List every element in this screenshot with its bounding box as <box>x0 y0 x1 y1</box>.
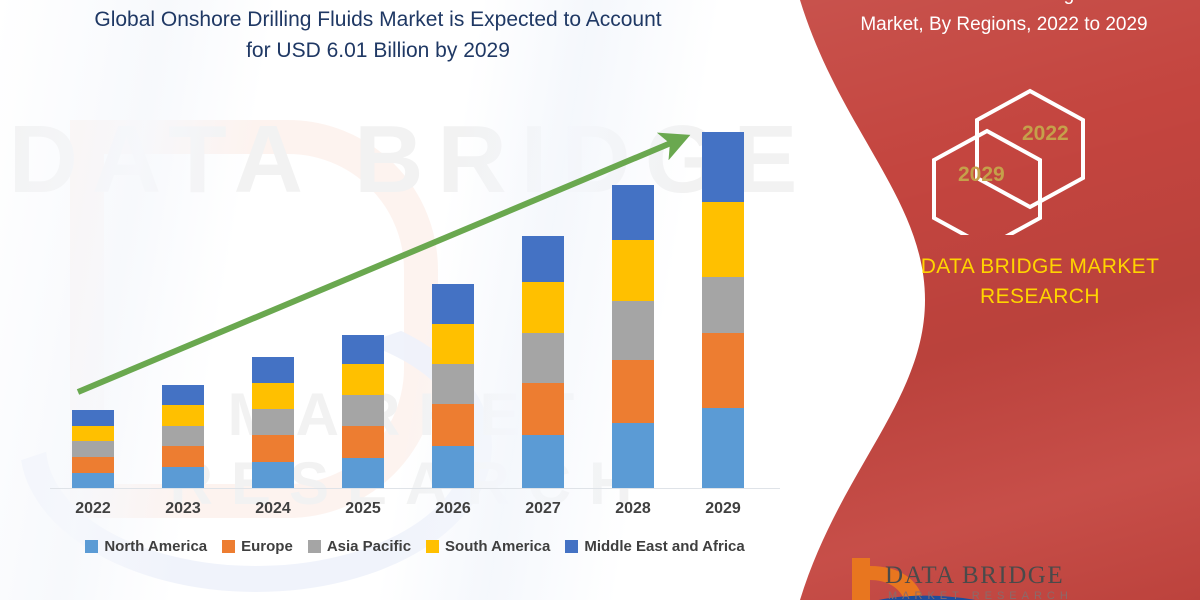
bar-segment-south-america <box>72 426 114 441</box>
bar-segment-north-america <box>72 473 114 488</box>
legend-item-middle-east-and-africa[interactable]: Middle East and Africa <box>565 538 744 555</box>
bar-segment-north-america <box>252 462 294 488</box>
x-axis-label-2028: 2028 <box>588 500 678 518</box>
legend-label: South America <box>445 538 550 555</box>
legend-swatch-icon <box>85 540 98 553</box>
bar-segment-europe <box>702 333 744 408</box>
legend-item-asia-pacific[interactable]: Asia Pacific <box>308 538 411 555</box>
bar-segment-asia-pacific <box>612 301 654 360</box>
x-axis-label-2029: 2029 <box>678 500 768 518</box>
legend-swatch-icon <box>308 540 321 553</box>
panel-title-line-clipped: Global Onshore Drilling Fluids <box>814 0 1194 10</box>
bar-2029[interactable] <box>702 132 744 488</box>
brand-line-2: RESEARCH <box>880 282 1200 312</box>
legend-label: Asia Pacific <box>327 538 411 555</box>
hexagon-2022-outline <box>977 91 1083 207</box>
bar-segment-europe <box>72 457 114 473</box>
x-axis-label-2022: 2022 <box>48 500 138 518</box>
bar-2026[interactable] <box>432 284 474 488</box>
bar-segment-middle-east-and-africa <box>612 185 654 240</box>
infographic-canvas: DATA BRIDGE MARKET RESEARCH Global Onsho… <box>0 0 1200 600</box>
bar-segment-south-america <box>432 324 474 364</box>
legend-swatch-icon <box>565 540 578 553</box>
legend-label: North America <box>104 538 207 555</box>
bar-segment-south-america <box>162 405 204 426</box>
bar-segment-south-america <box>522 282 564 333</box>
x-axis-label-2027: 2027 <box>498 500 588 518</box>
hexagon-2029-label: 2029 <box>958 163 1005 187</box>
bar-segment-middle-east-and-africa <box>162 385 204 405</box>
panel-title-line: Market, By Regions, 2022 to 2029 <box>814 10 1194 40</box>
bar-segment-asia-pacific <box>162 426 204 446</box>
x-axis-label-2026: 2026 <box>408 500 498 518</box>
legend-item-south-america[interactable]: South America <box>426 538 550 555</box>
hexagon-2022-label: 2022 <box>1022 122 1069 146</box>
legend-item-north-america[interactable]: North America <box>85 538 207 555</box>
bar-segment-south-america <box>252 383 294 409</box>
bar-2024[interactable] <box>252 357 294 488</box>
bar-segment-middle-east-and-africa <box>72 410 114 426</box>
bar-segment-asia-pacific <box>432 364 474 404</box>
logo-wordmark: DATA BRIDGE <box>885 562 1064 590</box>
bar-segment-asia-pacific <box>702 277 744 333</box>
legend-swatch-icon <box>222 540 235 553</box>
x-axis-label-2023: 2023 <box>138 500 228 518</box>
legend-swatch-icon <box>426 540 439 553</box>
x-axis-label-2024: 2024 <box>228 500 318 518</box>
bar-segment-north-america <box>162 467 204 488</box>
legend-label: Middle East and Africa <box>584 538 744 555</box>
bar-segment-asia-pacific <box>252 409 294 435</box>
bar-segment-europe <box>612 360 654 423</box>
x-axis-label-2025: 2025 <box>318 500 408 518</box>
x-axis-line <box>50 488 780 489</box>
bar-segment-south-america <box>702 202 744 277</box>
brand-line-1: DATA BRIDGE MARKET <box>880 252 1200 282</box>
bar-segment-north-america <box>612 423 654 488</box>
bar-segment-asia-pacific <box>342 395 384 426</box>
bar-2027[interactable] <box>522 236 564 488</box>
hexagon-badges <box>925 85 1155 235</box>
bar-segment-north-america <box>522 435 564 488</box>
bar-2022[interactable] <box>72 410 114 488</box>
bar-2023[interactable] <box>162 385 204 488</box>
bar-segment-europe <box>342 426 384 458</box>
panel-title: Global Onshore Drilling Fluids Market, B… <box>814 0 1194 40</box>
bar-segment-south-america <box>612 240 654 301</box>
legend-item-europe[interactable]: Europe <box>222 538 293 555</box>
bar-segment-asia-pacific <box>522 333 564 383</box>
logo-tagline: MARKET RESEARCH <box>888 590 1073 600</box>
chart-legend: North AmericaEuropeAsia PacificSouth Ame… <box>50 538 780 555</box>
bar-segment-europe <box>432 404 474 446</box>
bar-2028[interactable] <box>612 185 654 488</box>
bar-segment-middle-east-and-africa <box>342 335 384 364</box>
legend-label: Europe <box>241 538 293 555</box>
bar-segment-europe <box>522 383 564 435</box>
brand-name: DATA BRIDGE MARKET RESEARCH <box>880 252 1200 312</box>
chart-plot-area: 20222023202420252026202720282029 <box>0 0 820 600</box>
bar-2025[interactable] <box>342 335 384 488</box>
bar-segment-north-america <box>432 446 474 488</box>
bar-segment-middle-east-and-africa <box>432 284 474 324</box>
bar-segment-middle-east-and-africa <box>252 357 294 383</box>
bar-segment-middle-east-and-africa <box>522 236 564 282</box>
bar-segment-north-america <box>702 408 744 488</box>
bar-segment-asia-pacific <box>72 441 114 457</box>
bar-segment-europe <box>252 435 294 462</box>
bar-segment-middle-east-and-africa <box>702 132 744 202</box>
bar-segment-south-america <box>342 364 384 395</box>
bar-segment-europe <box>162 446 204 467</box>
bar-segment-north-america <box>342 458 384 488</box>
